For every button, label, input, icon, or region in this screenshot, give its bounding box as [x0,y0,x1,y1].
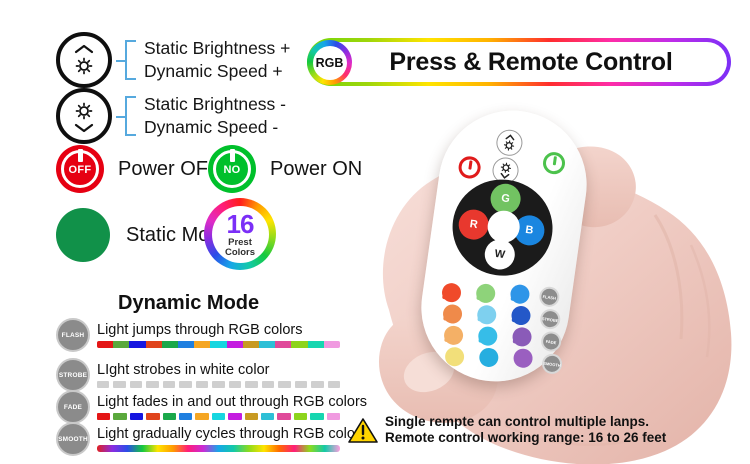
dynamic-row-smooth: SMOOTH Light gradually cycles through RG… [56,422,367,456]
brightness-down-line2: Dynamic Speed - [144,116,286,139]
header-banner: Press & Remote Control [307,38,731,86]
remote-pad-button-w[interactable]: W [483,238,517,272]
remote-brightness-up-button[interactable] [495,128,524,157]
power-off-icon: OFF [56,145,104,193]
brightness-down-icon [56,88,112,144]
remote-color-grid[interactable]: FLASH STROBE FADE SMOOTH [429,280,558,380]
static-mode-swatch [56,208,110,262]
warning-line2: Remote control working range: 16 to 26 f… [385,430,666,446]
remote-color-button[interactable] [511,326,532,347]
power-on-icon: NO [208,145,256,193]
fade-caption: Light fades in and out through RGB color… [97,394,367,410]
brightness-up-icon [56,32,112,88]
remote-color-button[interactable] [441,282,462,303]
power-on-badge: NO [208,164,256,176]
flash-button[interactable]: FLASH [56,318,90,352]
strobe-color-bar [97,381,340,388]
remote-color-button[interactable] [443,325,464,346]
smooth-color-bar [97,445,340,452]
remote-color-button[interactable] [509,283,530,304]
bracket-connector [116,38,138,82]
remote-power-off-button[interactable] [457,155,482,180]
warning-line1: Single rempte can control multiple lanps… [385,414,666,430]
dynamic-row-strobe: STROBE LIght strobes in white color [56,358,340,392]
remote-color-button[interactable] [476,304,497,325]
warning-notice: Single rempte can control multiple lanps… [348,414,666,446]
dynamic-mode-title: Dynamic Mode [118,292,259,315]
rgb-badge: RGB [307,40,352,85]
power-on-row: NO Power ON [208,145,362,193]
page-title: Press & Remote Control [389,48,672,77]
remote-flash-button[interactable]: FLASH [538,286,561,309]
remote-color-button[interactable] [512,348,533,369]
preset-colors-badge: 16 Prest Colors [204,198,276,270]
brightness-down-row: Static Brightness - Dynamic Speed - [56,88,286,144]
power-on-label: Power ON [270,158,362,181]
brightness-down-line1: Static Brightness - [144,93,286,116]
smooth-button[interactable]: SMOOTH [56,422,90,456]
brightness-up-line1: Static Brightness + [144,37,290,60]
brightness-up-row: Static Brightness + Dynamic Speed + [56,32,290,88]
warning-triangle-icon [348,417,378,444]
remote-color-button[interactable] [444,346,465,367]
power-off-label: Power OFF [118,158,220,181]
flash-color-bar [97,341,340,348]
rgb-badge-label: RGB [313,46,347,80]
poster-root: G B R W [0,0,750,464]
bracket-connector [116,94,138,138]
remote-color-button[interactable] [477,325,498,346]
strobe-button[interactable]: STROBE [56,358,90,392]
remote-color-button[interactable] [510,305,531,326]
dynamic-row-fade: FADE Light fades in and out through RGB … [56,390,367,424]
remote-strobe-button[interactable]: STROBE [539,308,562,331]
remote-color-button[interactable] [478,347,499,368]
remote-power-on-button[interactable] [542,151,567,176]
preset-line2: Colors [225,248,255,258]
flash-caption: Light jumps through RGB colors [97,322,340,338]
remote-pad-button-r[interactable]: R [457,208,491,242]
preset-line1: Prest [228,238,252,248]
power-off-row: OFF Power OFF [56,145,220,193]
dynamic-row-flash: FLASH Light jumps through RGB colors [56,318,340,352]
fade-button[interactable]: FADE [56,390,90,424]
fade-color-bar [97,413,340,420]
remote-color-pad[interactable]: G B R W [446,173,558,282]
smooth-caption: Light gradually cycles through RGB color… [97,426,367,442]
brightness-up-line2: Dynamic Speed + [144,60,290,83]
power-off-badge: OFF [56,164,104,176]
remote-color-button[interactable] [475,283,496,304]
strobe-caption: LIght strobes in white color [97,362,340,378]
remote-color-button[interactable] [442,303,463,324]
preset-count: 16 [227,211,254,237]
